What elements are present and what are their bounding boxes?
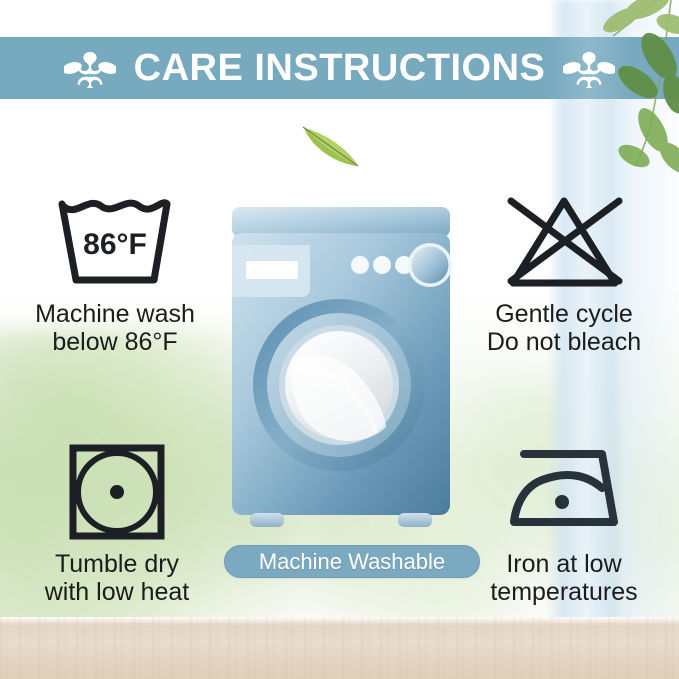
machine-washable-badge: Machine Washable bbox=[224, 545, 480, 578]
care-item-caption: Tumble dry with low heat bbox=[45, 550, 190, 607]
icon-wrap: 86°F bbox=[54, 190, 176, 294]
care-item-caption: Iron at low temperatures bbox=[490, 550, 637, 607]
care-item-machine-wash: 86°F Machine wash below 86°F bbox=[0, 190, 230, 357]
no-bleach-triangle-icon bbox=[499, 191, 629, 293]
icon-wrap bbox=[502, 440, 626, 544]
icon-wrap bbox=[499, 190, 629, 294]
care-item-iron-low: Iron at low temperatures bbox=[449, 440, 679, 607]
foliage-branch-icon bbox=[535, 0, 679, 180]
wood-grain-texture bbox=[0, 617, 679, 679]
care-item-gentle-bleach: Gentle cycle Do not bleach bbox=[449, 190, 679, 357]
machine-washable-label: Machine Washable bbox=[259, 551, 445, 573]
care-instructions-graphic: CARE INSTRUCTIONS 86°F Machine wash belo… bbox=[0, 0, 679, 679]
washing-machine-illustration bbox=[226, 205, 456, 535]
fleur-de-lis-icon bbox=[64, 48, 116, 88]
banner-title: CARE INSTRUCTIONS bbox=[134, 49, 546, 87]
wash-tub-icon: 86°F bbox=[54, 192, 176, 292]
icon-wrap bbox=[67, 440, 167, 544]
care-item-tumble-dry: Tumble dry with low heat bbox=[2, 440, 232, 607]
tumble-dry-low-icon bbox=[67, 442, 167, 542]
wash-tub-temperature: 86°F bbox=[83, 228, 147, 261]
leaf-icon bbox=[300, 122, 362, 170]
care-item-caption: Gentle cycle Do not bleach bbox=[487, 300, 641, 357]
care-item-caption: Machine wash below 86°F bbox=[35, 300, 195, 357]
iron-low-heat-icon bbox=[502, 446, 626, 538]
